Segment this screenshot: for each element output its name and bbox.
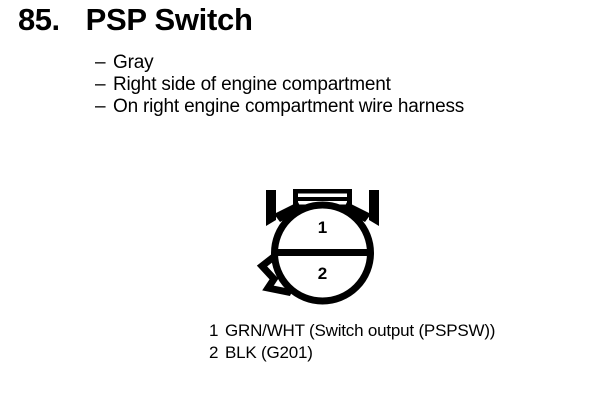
legend-pin-number: 1 bbox=[209, 320, 225, 342]
page-title: 85. PSP Switch bbox=[18, 4, 253, 35]
dash-bullet-icon: – bbox=[95, 96, 113, 118]
note-text: On right engine compartment wire harness bbox=[113, 96, 464, 118]
connector-diagram: 1 2 bbox=[250, 180, 395, 315]
dash-bullet-icon: – bbox=[95, 52, 113, 74]
list-item: – On right engine compartment wire harne… bbox=[95, 96, 464, 118]
legend-pin-number: 2 bbox=[209, 342, 225, 364]
note-text: Gray bbox=[113, 52, 153, 74]
page-canvas: 85. PSP Switch – Gray – Right side of en… bbox=[0, 0, 608, 400]
item-title: PSP Switch bbox=[86, 4, 253, 35]
dash-bullet-icon: – bbox=[95, 74, 113, 96]
pin-legend: 1 GRN/WHT (Switch output (PSPSW)) 2 BLK … bbox=[209, 320, 495, 364]
note-text: Right side of engine compartment bbox=[113, 74, 391, 96]
cavity-number-1: 1 bbox=[318, 218, 327, 237]
cavity-number-2: 2 bbox=[318, 264, 327, 283]
legend-pin-description: GRN/WHT (Switch output (PSPSW)) bbox=[225, 320, 495, 342]
connector-right-post bbox=[369, 190, 379, 226]
list-item: – Gray bbox=[95, 52, 464, 74]
item-number: 85. bbox=[18, 4, 60, 35]
legend-row: 1 GRN/WHT (Switch output (PSPSW)) bbox=[209, 320, 495, 342]
legend-row: 2 BLK (G201) bbox=[209, 342, 495, 364]
cavity-divider bbox=[272, 249, 373, 256]
notes-list: – Gray – Right side of engine compartmen… bbox=[95, 52, 464, 118]
connector-left-post bbox=[266, 190, 276, 226]
list-item: – Right side of engine compartment bbox=[95, 74, 464, 96]
legend-pin-description: BLK (G201) bbox=[225, 342, 313, 364]
